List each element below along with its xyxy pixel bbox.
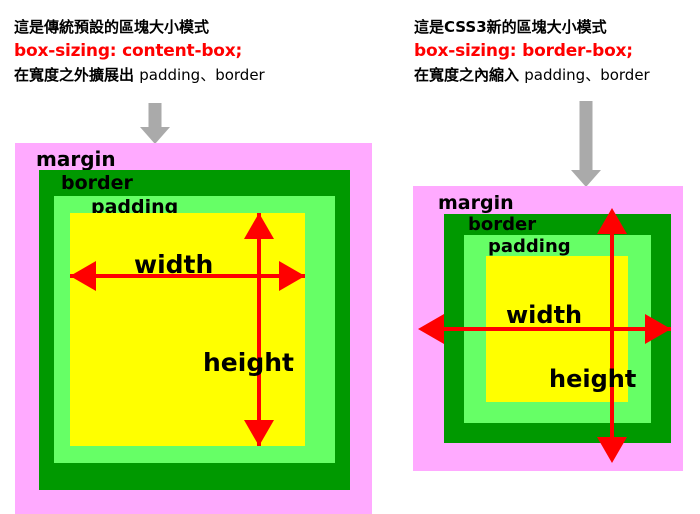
width-label: width xyxy=(506,303,582,327)
height-arrow-line xyxy=(610,214,614,443)
layer-label-margin: margin xyxy=(438,194,514,213)
width-arrow-head-left xyxy=(418,314,444,344)
layer-label-border: border xyxy=(468,216,536,234)
box-model-diagram-border-box: margin border padding width height xyxy=(0,0,700,514)
height-arrow-head-down xyxy=(597,437,627,463)
width-arrow-head-right xyxy=(645,314,671,344)
layer-label-padding: padding xyxy=(488,238,571,256)
height-label: height xyxy=(549,367,636,391)
height-arrow-head-up xyxy=(597,208,627,234)
